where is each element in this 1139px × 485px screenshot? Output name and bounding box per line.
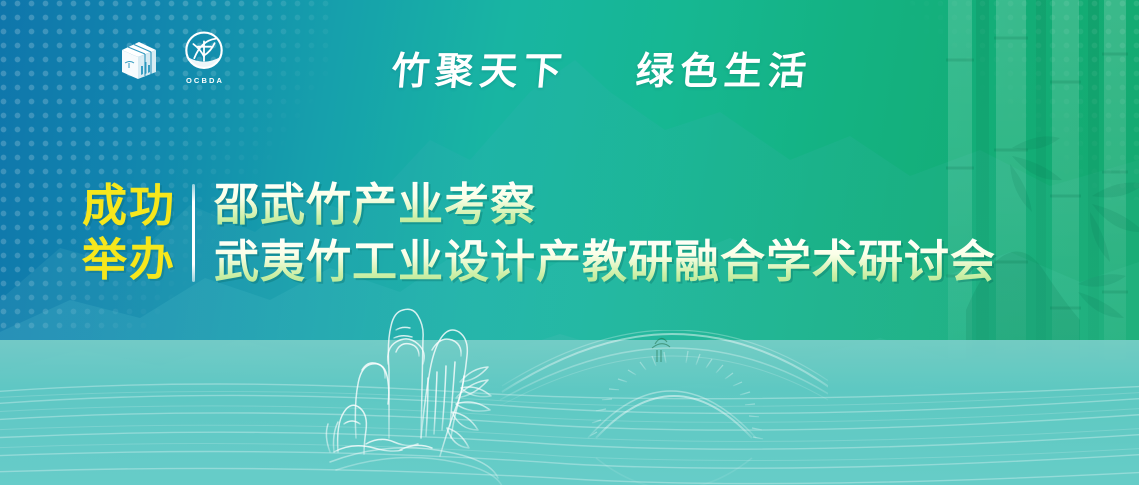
water-band [0, 340, 1139, 485]
banner-header: OCBDA 竹聚天下 绿色生活 [0, 0, 1139, 118]
event-banner: OCBDA 竹聚天下 绿色生活 成功 举办 邵武竹产业考察 武夷竹工业设计产教研… [0, 0, 1139, 485]
headline-line-1: 邵武竹产业考察 [214, 176, 996, 233]
ocbda-circular-logo: OCBDA [178, 29, 230, 89]
mountain-foot [0, 384, 1139, 485]
bamboo-cube-logo [112, 33, 164, 85]
lead-label: 成功 举办 [82, 176, 192, 290]
lead-line-2: 举办 [82, 233, 176, 287]
headline-line-2: 武夷竹工业设计产教研融合学术研讨会 [214, 233, 996, 290]
banner-slogan: 竹聚天下 绿色生活 [390, 40, 815, 95]
event-title-block: 成功 举办 邵武竹产业考察 武夷竹工业设计产教研融合学术研讨会 [82, 176, 996, 290]
ocbda-logo-caption: OCBDA [184, 76, 224, 85]
slogan-left-text: 竹聚天下 [390, 48, 570, 93]
slogan-right-text: 绿色生活 [634, 48, 814, 93]
bridge-crest-tree [652, 338, 670, 362]
logo-group: OCBDA [112, 29, 230, 89]
headline-group: 邵武竹产业考察 武夷竹工业设计产教研融合学术研讨会 [195, 176, 996, 290]
mountain-near [0, 334, 1139, 485]
lead-line-1: 成功 [82, 179, 176, 233]
